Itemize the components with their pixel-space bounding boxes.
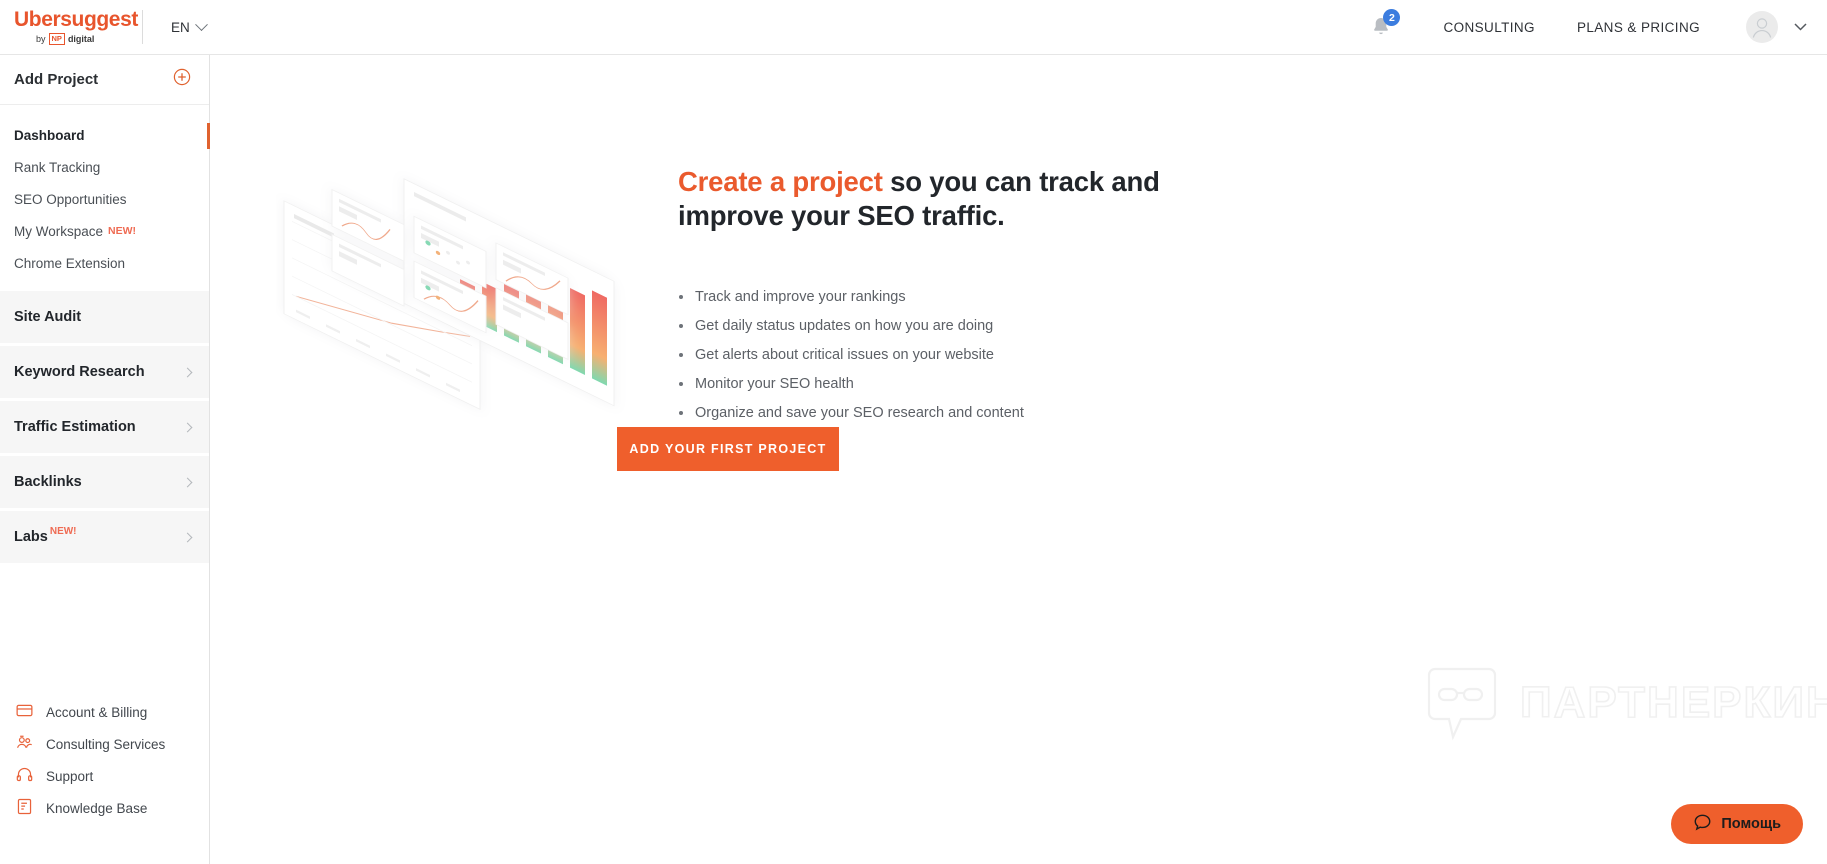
notification-badge: 2 [1383,9,1400,26]
bullet-dot [679,295,683,299]
sidebar-item-label: My Workspace [14,224,103,239]
sidebar-item-label: Rank Tracking [14,160,100,175]
footer-label: Consulting Services [46,737,165,752]
sidebar-item-support[interactable]: Support [16,760,209,792]
footer-label: Knowledge Base [46,801,147,816]
sidebar-item-label: SEO Opportunities [14,192,127,207]
sidebar-section-traffic-estimation[interactable]: Traffic Estimation [0,401,209,453]
app-root: Ubersuggest by NP digital EN 2 CONSULTIN… [0,0,1827,864]
sidebar-section-backlinks[interactable]: Backlinks [0,456,209,508]
list-item-label: Get alerts about critical issues on your… [695,341,994,370]
logo-wordmark: Ubersuggest [14,9,140,31]
sidebar-section-labs[interactable]: Labs NEW! [0,511,209,563]
sidebar-item-account-billing[interactable]: Account & Billing [16,696,209,728]
sidebar-item-label: Chrome Extension [14,256,125,271]
header-right: 2 CONSULTING PLANS & PRICING [1361,7,1827,47]
footer-label: Support [46,769,93,784]
active-indicator [207,123,210,149]
sidebar-item-label: Dashboard [14,128,85,143]
sidebar-footer: Account & Billing Consulting Services [0,696,209,824]
sidebar-section-site-audit[interactable]: Site Audit [0,291,209,343]
bullet-dot [679,411,683,415]
sidebar-section-keyword-research[interactable]: Keyword Research [0,346,209,398]
bullet-dot [679,382,683,386]
sidebar-item-my-workspace[interactable]: My Workspace NEW! [0,215,209,247]
sidebar: Add Project Dashboard Rank Tracking SEO … [0,55,210,864]
add-project-button[interactable]: Add Project [0,55,209,105]
section-label: Site Audit [14,309,81,325]
sidebar-item-rank-tracking[interactable]: Rank Tracking [0,151,209,183]
avatar[interactable] [1746,11,1778,43]
bullet-dot [679,353,683,357]
chevron-right-icon [183,477,193,487]
top-header: Ubersuggest by NP digital EN 2 CONSULTIN… [0,0,1827,55]
footer-label: Account & Billing [46,705,147,720]
section-label: Backlinks [14,474,82,490]
list-item: Monitor your SEO health [679,370,1024,399]
benefits-list: Track and improve your rankings Get dail… [679,283,1024,428]
header-divider [142,10,143,44]
sidebar-item-chrome-extension[interactable]: Chrome Extension [0,247,209,279]
sidebar-item-knowledge-base[interactable]: Knowledge Base [16,792,209,824]
watermark-logo-icon [1424,665,1500,741]
page-title: Create a project so you can track and im… [678,165,1238,234]
chevron-right-icon [183,422,193,432]
logo[interactable]: Ubersuggest by NP digital [0,9,140,45]
bullet-dot [679,324,683,328]
new-badge: NEW! [108,225,136,237]
logo-byline: by NP digital [14,33,140,45]
chevron-right-icon [183,367,193,377]
account-menu-chevron-icon[interactable] [1794,18,1807,36]
chevron-right-icon [183,532,193,542]
list-item: Get alerts about critical issues on your… [679,341,1024,370]
list-item: Organize and save your SEO research and … [679,399,1024,428]
add-project-label: Add Project [14,71,98,88]
people-icon [16,734,33,754]
section-label: Traffic Estimation [14,419,136,435]
nav-plans-pricing[interactable]: PLANS & PRICING [1577,20,1700,35]
section-label: Labs [14,529,48,545]
add-first-project-button[interactable]: ADD YOUR FIRST PROJECT [617,427,839,471]
nav-consulting[interactable]: CONSULTING [1443,20,1535,35]
chat-bubble-icon [1693,813,1712,836]
document-icon [16,798,33,818]
chevron-down-icon [195,18,208,31]
logo-by-text: by [36,34,46,44]
logo-digital-text: digital [68,34,95,44]
headline-accent: Create a project [678,166,883,197]
section-label: Keyword Research [14,364,145,380]
sidebar-nav-group: Dashboard Rank Tracking SEO Opportunitie… [0,105,209,291]
list-item: Get daily status updates on how you are … [679,312,1024,341]
dashboard-illustration [276,150,696,440]
user-icon [1747,12,1777,42]
list-item-label: Organize and save your SEO research and … [695,399,1024,428]
language-selector[interactable]: EN [171,20,206,35]
list-item: Track and improve your rankings [679,283,1024,312]
sidebar-item-seo-opportunities[interactable]: SEO Opportunities [0,183,209,215]
np-badge: NP [49,33,65,45]
watermark-text: ПАРТНЕРКИН [1520,678,1827,728]
list-item-label: Track and improve your rankings [695,283,906,312]
main-content: Create a project so you can track and im… [211,55,1827,864]
watermark: ПАРТНЕРКИН [1424,665,1827,741]
credit-card-icon [16,702,33,722]
help-button[interactable]: Помощь [1671,804,1803,844]
help-label: Помощь [1721,816,1781,832]
sidebar-item-dashboard[interactable]: Dashboard [0,119,209,151]
sidebar-item-consulting-services[interactable]: Consulting Services [16,728,209,760]
plus-circle-icon [173,68,191,91]
language-label: EN [171,20,190,35]
list-item-label: Monitor your SEO health [695,370,854,399]
headset-icon [16,766,33,786]
list-item-label: Get daily status updates on how you are … [695,312,993,341]
notifications-button[interactable]: 2 [1361,7,1401,47]
new-badge: NEW! [50,526,77,537]
